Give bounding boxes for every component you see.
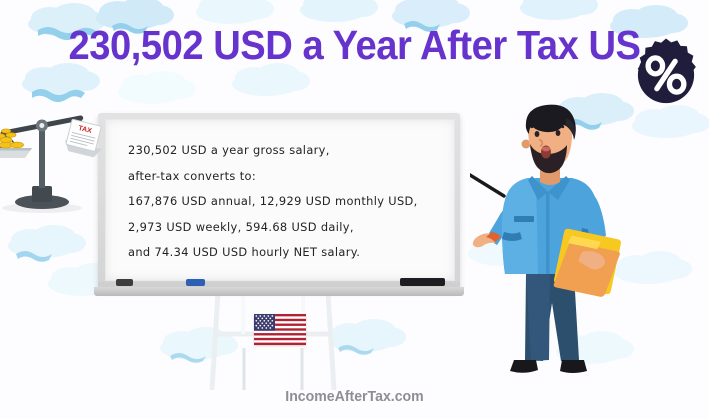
pointer-stick (470, 151, 504, 196)
site-footer: IncomeAfterTax.com (21, 388, 687, 405)
board-line-3: 167,876 USD annual, 12,929 USD monthly U… (128, 189, 446, 215)
whiteboard-text: 230,502 USD a year gross salary, after-t… (128, 138, 446, 266)
whiteboard-tray (94, 287, 464, 296)
presenter-person-icon (470, 104, 630, 380)
page-title: 230,502 USD a Year After Tax US (25, 22, 684, 68)
board-line-4: 2,973 USD weekly, 594.68 USD daily, (128, 215, 446, 241)
whiteboard: 230,502 USD a year gross salary, after-t… (98, 113, 460, 299)
infographic-canvas: 230,502 USD a Year After Tax US (0, 0, 709, 419)
board-line-2: after-tax converts to: (128, 164, 446, 190)
us-flag-icon (254, 314, 306, 345)
blue-marker (186, 279, 205, 286)
board-line-1: 230,502 USD a year gross salary, (128, 138, 446, 164)
whiteboard-frame: 230,502 USD a year gross salary, after-t… (98, 113, 460, 289)
balance-scale-icon: TAX (0, 104, 104, 216)
percent-badge-icon (628, 37, 704, 113)
whiteboard-eraser (116, 279, 133, 286)
black-marker (400, 278, 445, 286)
board-line-5: and 74.34 USD USD hourly NET salary. (128, 240, 446, 266)
head (522, 105, 576, 174)
whiteboard-surface: 230,502 USD a year gross salary, after-t… (105, 119, 455, 281)
